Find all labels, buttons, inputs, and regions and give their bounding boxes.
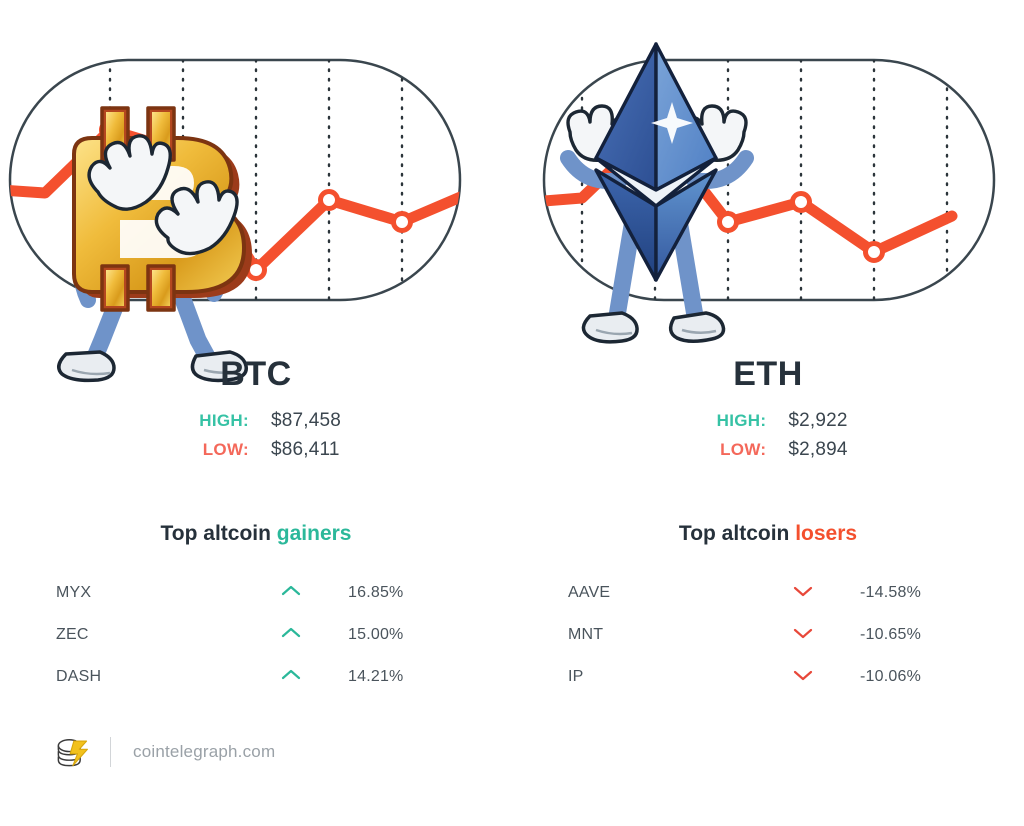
- btc-low-value: $86,411: [249, 435, 340, 464]
- table-row: IP -10.06%: [568, 656, 968, 698]
- btc-low-label: LOW:: [171, 437, 249, 463]
- lightning-bolt-icon: [70, 741, 87, 766]
- table-row: MYX 16.85%: [56, 572, 456, 614]
- table-row: AAVE -14.58%: [568, 572, 968, 614]
- btc-low-row: LOW: $86,411: [171, 435, 341, 464]
- btc-chart-stage: [0, 30, 512, 330]
- eth-low-row: LOW: $2,894: [688, 435, 847, 464]
- cointelegraph-coin-logo: [52, 732, 92, 772]
- chevron-down-icon: [768, 668, 838, 686]
- btc-chart-panel: [0, 30, 512, 360]
- eth-low-label: LOW:: [688, 437, 766, 463]
- table-row: DASH 14.21%: [56, 656, 456, 698]
- loser-ticker: AAVE: [568, 584, 768, 602]
- btc-price-rows: HIGH: $87,458 LOW: $86,411: [171, 406, 341, 465]
- losers-title-accent: losers: [795, 522, 857, 545]
- table-row: MNT -10.65%: [568, 614, 968, 656]
- infographic-page: BTC HIGH: $87,458 LOW: $86,411 ETH HIGH:…: [0, 0, 1024, 826]
- eth-high-row: HIGH: $2,922: [688, 406, 847, 435]
- chevron-up-icon: [256, 584, 326, 602]
- chevron-down-icon: [768, 626, 838, 644]
- footer: cointelegraph.com: [52, 730, 275, 774]
- loser-pct: -10.65%: [838, 626, 968, 644]
- gainer-ticker: MYX: [56, 584, 256, 602]
- eth-chart-panel: [512, 30, 1024, 360]
- charts-row: [0, 30, 1024, 360]
- gainer-pct: 14.21%: [326, 668, 456, 686]
- losers-column: Top altcoin losers AAVE -14.58% MNT: [512, 522, 1024, 698]
- ethereum-mascot-diamond: [596, 44, 716, 280]
- ethereum-mascot: [512, 30, 812, 360]
- eth-high-label: HIGH:: [688, 408, 766, 434]
- eth-price-rows: HIGH: $2,922 LOW: $2,894: [688, 406, 847, 465]
- losers-title-prefix: Top altcoin: [679, 522, 795, 545]
- gainer-pct: 16.85%: [326, 584, 456, 602]
- gainers-column: Top altcoin gainers MYX 16.85% ZEC: [0, 522, 512, 698]
- gainer-ticker: DASH: [56, 668, 256, 686]
- gainers-title: Top altcoin gainers: [56, 522, 456, 546]
- altcoin-tables: Top altcoin gainers MYX 16.85% ZEC: [0, 522, 1024, 698]
- gainer-ticker: ZEC: [56, 626, 256, 644]
- losers-title: Top altcoin losers: [568, 522, 968, 546]
- gainers-title-prefix: Top altcoin: [161, 522, 277, 545]
- loser-pct: -10.06%: [838, 668, 968, 686]
- eth-chart-stage: [512, 30, 1024, 330]
- btc-high-label: HIGH:: [171, 408, 249, 434]
- btc-high-value: $87,458: [249, 406, 341, 435]
- eth-high-value: $2,922: [766, 406, 847, 435]
- eth-coin-name: ETH: [512, 355, 1024, 394]
- ethereum-mascot-shoes: [583, 313, 723, 342]
- gainers-title-accent: gainers: [277, 522, 352, 545]
- price-summary: BTC HIGH: $87,458 LOW: $86,411 ETH HIGH:…: [0, 355, 1024, 475]
- chevron-down-icon: [768, 584, 838, 602]
- loser-pct: -14.58%: [838, 584, 968, 602]
- chevron-up-icon: [256, 668, 326, 686]
- footer-divider: [110, 737, 111, 767]
- loser-ticker: MNT: [568, 626, 768, 644]
- btc-price-column: BTC HIGH: $87,458 LOW: $86,411: [0, 355, 512, 475]
- eth-low-value: $2,894: [766, 435, 847, 464]
- chevron-up-icon: [256, 626, 326, 644]
- gainer-pct: 15.00%: [326, 626, 456, 644]
- footer-site-name: cointelegraph.com: [133, 742, 275, 762]
- btc-coin-name: BTC: [0, 355, 512, 394]
- table-row: ZEC 15.00%: [56, 614, 456, 656]
- bitcoin-mascot: [28, 88, 283, 383]
- btc-high-row: HIGH: $87,458: [171, 406, 341, 435]
- loser-ticker: IP: [568, 668, 768, 686]
- eth-price-column: ETH HIGH: $2,922 LOW: $2,894: [512, 355, 1024, 475]
